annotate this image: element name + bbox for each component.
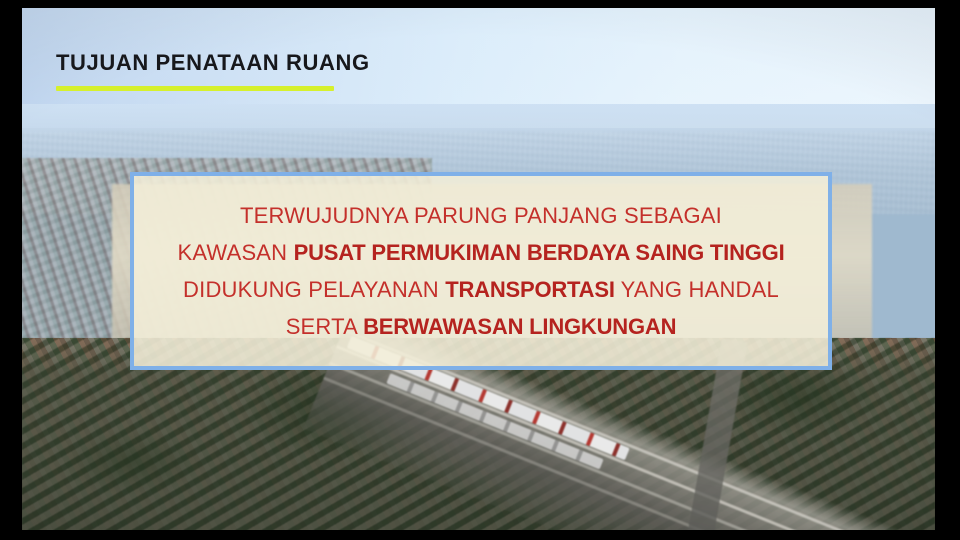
statement-line-2: KAWASAN PUSAT PERMUKIMAN BERDAYA SAING T… bbox=[144, 241, 818, 264]
vision-statement-box: TERWUJUDNYA PARUNG PANJANG SEBAGAI KAWAS… bbox=[130, 172, 832, 370]
letterbox-right bbox=[935, 0, 960, 540]
letterbox-left bbox=[0, 0, 22, 540]
presentation-slide: TUJUAN PENATAAN RUANG TERWUJUDNYA PARUNG… bbox=[0, 0, 960, 540]
statement-line-1: TERWUJUDNYA PARUNG PANJANG SEBAGAI bbox=[144, 204, 818, 227]
statement-line-4: SERTA BERWAWASAN LINGKUNGAN bbox=[144, 315, 818, 338]
statement-line-4-emphasis: BERWAWASAN LINGKUNGAN bbox=[363, 314, 676, 339]
statement-line-1-text: TERWUJUDNYA PARUNG PANJANG SEBAGAI bbox=[240, 203, 722, 228]
statement-line-3-emphasis: TRANSPORTASI bbox=[445, 277, 615, 302]
letterbox-top bbox=[0, 0, 960, 8]
statement-line-3-prefix: DIDUKUNG PELAYANAN bbox=[183, 277, 445, 302]
page-title: TUJUAN PENATAAN RUANG bbox=[56, 52, 370, 74]
statement-line-2-prefix: KAWASAN bbox=[177, 240, 293, 265]
statement-line-3: DIDUKUNG PELAYANAN TRANSPORTASI YANG HAN… bbox=[144, 278, 818, 301]
letterbox-bottom bbox=[0, 530, 960, 540]
statement-line-3-suffix: YANG HANDAL bbox=[615, 277, 779, 302]
title-underline-accent bbox=[56, 86, 334, 91]
statement-line-4-prefix: SERTA bbox=[286, 314, 363, 339]
statement-line-2-emphasis: PUSAT PERMUKIMAN BERDAYA SAING TINGGI bbox=[294, 240, 785, 265]
slide-title-block: TUJUAN PENATAAN RUANG bbox=[56, 52, 370, 91]
